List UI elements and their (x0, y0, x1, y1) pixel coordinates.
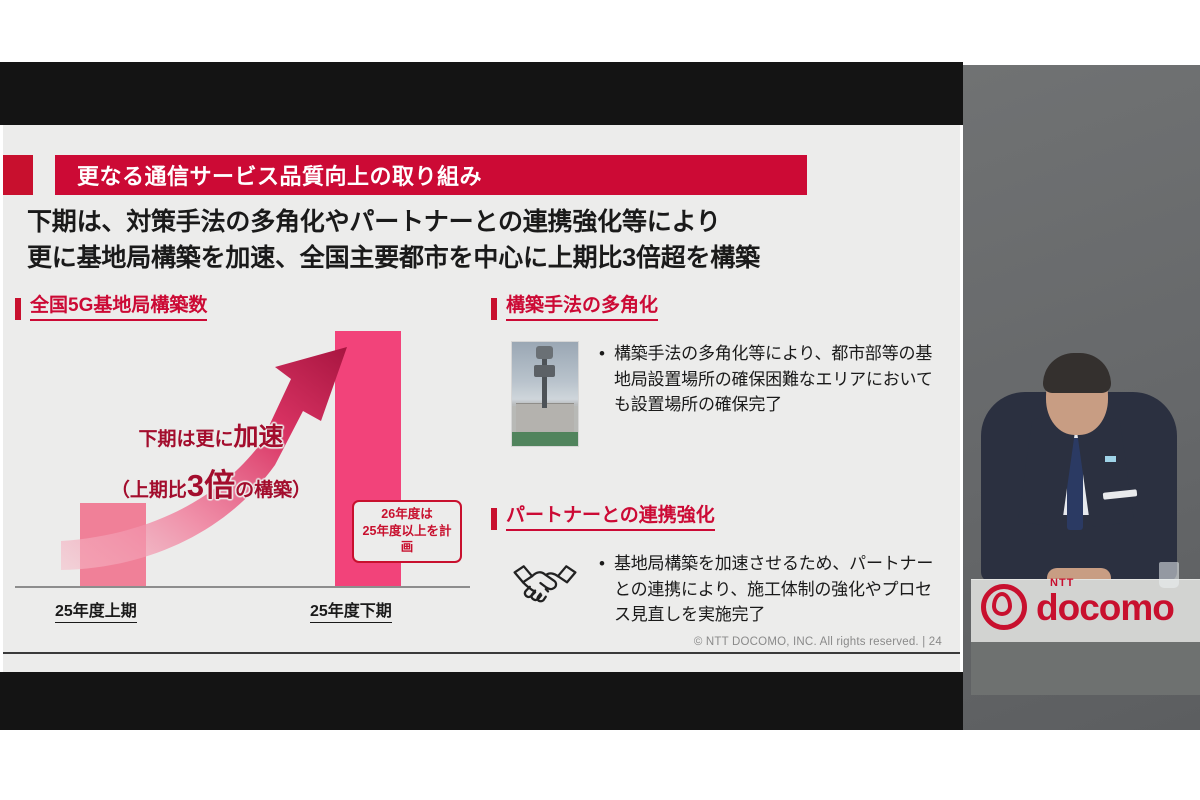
docomo-mark-icon (981, 584, 1027, 630)
docomo-text: docomo (1036, 587, 1174, 628)
annotation-line-1: 下期は更に加速 (61, 417, 361, 453)
screenshot-root: 更なる通信サービス品質向上の取り組み 下期は、対策手法の多角化やパートナーとの連… (0, 0, 1200, 800)
letterbox-band-top (0, 62, 963, 125)
photo-antenna-pod-lower (534, 365, 555, 377)
annotation-line-2-open: （上期比 (111, 480, 187, 501)
handshake-icon (507, 551, 583, 609)
photo-antenna-pod-upper (536, 346, 553, 360)
title-bar-accent-block (3, 155, 33, 195)
topic-2-paragraph: 基地局構築を加速させるため、パートナーとの連携により、施工体制の強化やプロセス見… (614, 551, 939, 628)
annotation-line-2: （上期比3倍の構築） (61, 460, 361, 505)
topic-1-heading-label: 構築手法の多角化 (506, 295, 658, 321)
annotation-line-2-emphasis: 3倍 (187, 468, 235, 503)
callout-line-1: 26年度は (358, 506, 456, 523)
bar-25h1 (80, 503, 146, 587)
topic-1-text: • 構築手法の多角化等により、都市部等の基地局設置場所の確保困難なエリアにおいて… (599, 341, 939, 447)
topic-2-text: • 基地局構築を加速させるため、パートナーとの連携により、施工体制の強化やプロセ… (599, 551, 939, 628)
x-tick-label-1: 25年度下期 (310, 597, 392, 623)
lead-line-2: 更に基地局構築を加速、全国主要都市を中心に上期比3倍超を構築 (27, 241, 937, 277)
footer-copyright: © NTT DOCOMO, INC. All rights reserved. … (694, 636, 942, 648)
topic-partnership: パートナーとの連携強化 (491, 505, 951, 628)
chart-panel: 全国5G基地局構築数 (3, 295, 483, 672)
slide-title-bar: 更なる通信サービス品質向上の取り組み (55, 155, 807, 195)
footer-divider (3, 652, 960, 654)
slide-lead-paragraph: 下期は、対策手法の多角化やパートナーとの連携強化等により 更に基地局構築を加速、… (27, 205, 937, 276)
base-station-photo (511, 341, 579, 447)
chart-annotation: 下期は更に加速 （上期比3倍の構築） (61, 417, 361, 505)
ntt-text: NTT (1050, 577, 1074, 589)
photo-green-fence (512, 432, 578, 446)
speaker-video-panel: NTT docomo (963, 65, 1200, 730)
speaker-lapel-pin (1105, 456, 1116, 462)
bar-chart-plot-area: 下期は更に加速 （上期比3倍の構築） 26年度は 25年度以上を計画 25年度上… (3, 325, 483, 645)
heading-marker-icon (15, 298, 21, 320)
slide-title-text: 更なる通信サービス品質向上の取り組み (55, 159, 482, 191)
annotation-line-1-emphasis: 加速 (234, 423, 284, 451)
x-tick-label-0: 25年度上期 (55, 597, 137, 623)
callout-line-2: 25年度以上を計画 (358, 523, 456, 556)
chart-x-axis (15, 586, 470, 588)
chart-heading-label: 全国5G基地局構築数 (30, 295, 207, 321)
annotation-line-2-close: の構築） (235, 480, 311, 501)
topic-1-visual (507, 341, 583, 447)
topic-1-paragraph: 構築手法の多角化等により、都市部等の基地局設置場所の確保困難なエリアにおいても設… (614, 341, 939, 447)
docomo-wordmark: NTT docomo (1036, 589, 1174, 626)
bullet-icon: • (599, 551, 605, 628)
topic-2-heading-label: パートナーとの連携強化 (506, 505, 715, 531)
heading-marker-icon (491, 298, 497, 320)
topic-diversification: 構築手法の多角化 • (491, 295, 951, 447)
letterbox-band-bottom (0, 672, 963, 730)
bullet-icon: • (599, 341, 605, 447)
heading-marker-icon (491, 508, 497, 530)
podium-base (971, 641, 1200, 695)
topic-1-heading: 構築手法の多角化 (491, 295, 951, 321)
handshake-icon-wrap (507, 551, 583, 609)
plan-callout-box: 26年度は 25年度以上を計画 (352, 500, 462, 563)
chart-heading: 全国5G基地局構築数 (15, 295, 207, 321)
docomo-logo: NTT docomo (981, 584, 1174, 630)
topics-panel: 構築手法の多角化 • (491, 295, 951, 672)
lead-line-1: 下期は、対策手法の多角化やパートナーとの連携強化等により (27, 205, 937, 241)
annotation-line-1-pre: 下期は更に (138, 429, 233, 450)
topic-2-visual (507, 551, 583, 628)
presentation-slide: 更なる通信サービス品質向上の取り組み 下期は、対策手法の多角化やパートナーとの連… (3, 125, 960, 672)
topic-1-body: • 構築手法の多角化等により、都市部等の基地局設置場所の確保困難なエリアにおいて… (491, 341, 951, 447)
topic-2-heading: パートナーとの連携強化 (491, 505, 951, 531)
topic-2-body: • 基地局構築を加速させるため、パートナーとの連携により、施工体制の強化やプロセ… (491, 551, 951, 628)
